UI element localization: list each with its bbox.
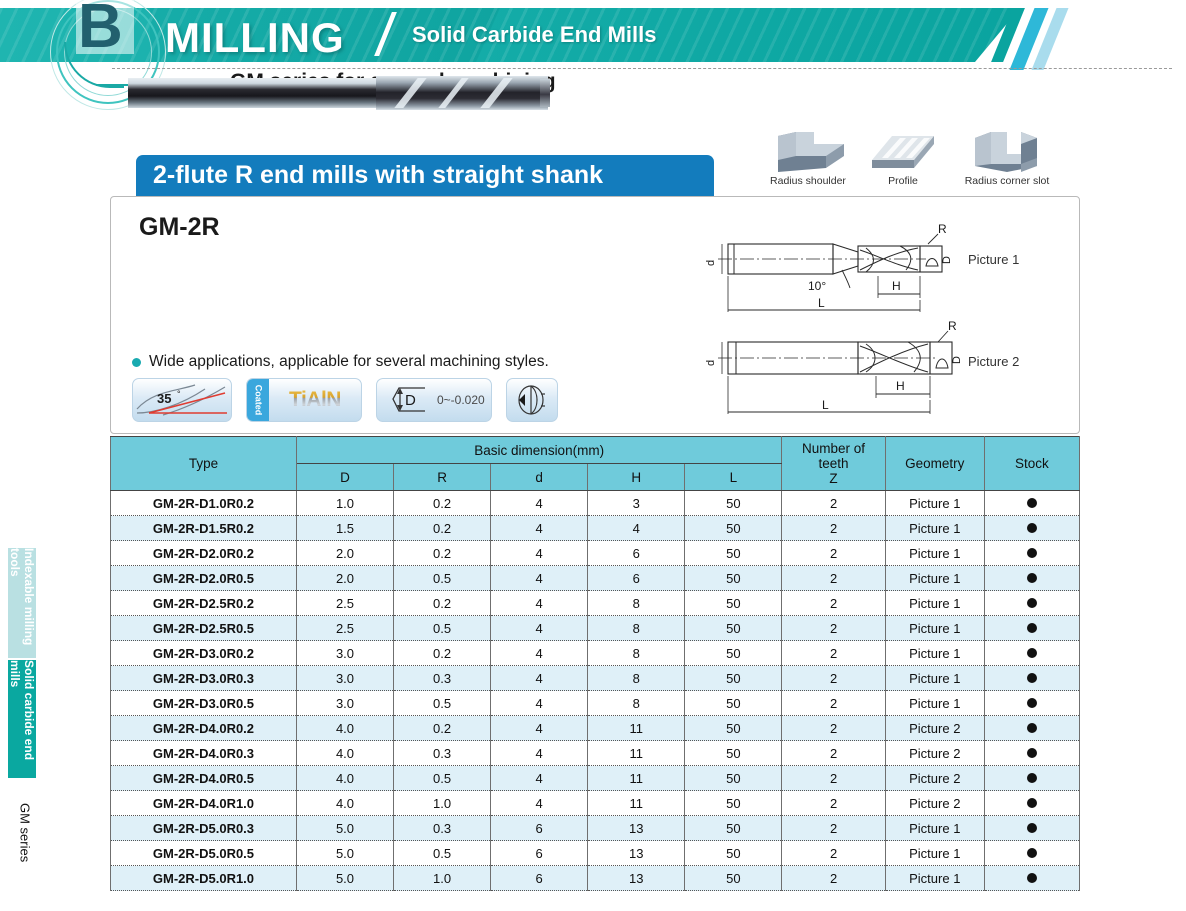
col-basic-dimension: Basic dimension(mm) — [296, 437, 781, 464]
cell-teeth: 2 — [782, 666, 885, 691]
teeth-line-1: Number of — [784, 441, 882, 456]
photo-shank — [128, 78, 378, 108]
cell-L: 50 — [685, 541, 782, 566]
cell-R: 0.2 — [394, 716, 491, 741]
cell-R: 0.3 — [394, 816, 491, 841]
flute-cross-section-icon — [515, 382, 549, 418]
taper-angle-label: 10° — [808, 279, 826, 293]
col-d: d — [491, 464, 588, 491]
svg-text:°: ° — [177, 389, 181, 399]
cell-d: 4 — [491, 641, 588, 666]
stock-available-icon — [1027, 723, 1037, 733]
cell-R: 1.0 — [394, 866, 491, 891]
cell-teeth: 2 — [782, 516, 885, 541]
table-row: GM-2R-D3.0R0.53.00.548502Picture 1 — [111, 691, 1080, 716]
section-title-text: 2-flute R end mills with straight shank — [153, 161, 603, 190]
stock-available-icon — [1027, 848, 1037, 858]
cell-R: 0.2 — [394, 541, 491, 566]
cell-geometry: Picture 1 — [885, 841, 984, 866]
col-D: D — [296, 464, 393, 491]
tolerance-symbol-text: D — [405, 392, 416, 409]
cell-stock — [984, 866, 1079, 891]
cell-geometry: Picture 2 — [885, 766, 984, 791]
cell-teeth: 2 — [782, 816, 885, 841]
col-type: Type — [111, 437, 297, 491]
radius-corner-slot-icon — [948, 130, 1066, 174]
cell-d: 4 — [491, 766, 588, 791]
cell-stock — [984, 791, 1079, 816]
cell-D: 2.5 — [296, 616, 393, 641]
teeth-line-3: Z — [784, 471, 882, 486]
cell-H: 8 — [588, 691, 685, 716]
cell-type: GM-2R-D4.0R0.3 — [111, 741, 297, 766]
cell-R: 0.5 — [394, 691, 491, 716]
cell-D: 3.0 — [296, 641, 393, 666]
cell-H: 13 — [588, 841, 685, 866]
table-row: GM-2R-D4.0R0.54.00.5411502Picture 2 — [111, 766, 1080, 791]
dim-d-label: d — [705, 260, 717, 266]
picture-1-caption: Picture 1 — [968, 252, 1019, 267]
table-row: GM-2R-D2.5R0.52.50.548502Picture 1 — [111, 616, 1080, 641]
cell-stock — [984, 691, 1079, 716]
cell-geometry: Picture 1 — [885, 491, 984, 516]
cell-R: 0.3 — [394, 666, 491, 691]
technical-drawing-picture-1: d R D 10° H L Picture 1 — [700, 222, 1060, 318]
cell-D: 5.0 — [296, 866, 393, 891]
cell-D: 5.0 — [296, 816, 393, 841]
dim-D-label: D — [941, 256, 953, 264]
cell-teeth: 2 — [782, 541, 885, 566]
cell-geometry: Picture 1 — [885, 616, 984, 641]
feature-bullet-line: Wide applications, applicable for severa… — [132, 353, 549, 371]
stock-available-icon — [1027, 548, 1037, 558]
operation-label: Profile — [866, 175, 940, 187]
operation-radius-corner-slot: Radius corner slot — [948, 130, 1066, 187]
table-row: GM-2R-D2.0R0.22.00.246502Picture 1 — [111, 541, 1080, 566]
stock-available-icon — [1027, 498, 1037, 508]
cell-geometry: Picture 1 — [885, 541, 984, 566]
cell-geometry: Picture 1 — [885, 641, 984, 666]
cell-geometry: Picture 1 — [885, 691, 984, 716]
cell-R: 0.3 — [394, 741, 491, 766]
cell-stock — [984, 491, 1079, 516]
cell-L: 50 — [685, 791, 782, 816]
cell-R: 0.2 — [394, 516, 491, 541]
cell-d: 4 — [491, 616, 588, 641]
sidebar-item-solid-carbide-end-mills[interactable]: Solid carbide end mills — [8, 660, 36, 778]
cell-R: 0.5 — [394, 841, 491, 866]
stock-available-icon — [1027, 748, 1037, 758]
cell-teeth: 2 — [782, 591, 885, 616]
dim-L-label: L — [822, 398, 829, 412]
cell-stock — [984, 591, 1079, 616]
cell-L: 50 — [685, 641, 782, 666]
cell-d: 6 — [491, 841, 588, 866]
col-geometry: Geometry — [885, 437, 984, 491]
cell-stock — [984, 616, 1079, 641]
stock-available-icon — [1027, 523, 1037, 533]
helix-angle-value: 35 — [157, 391, 171, 406]
stock-available-icon — [1027, 823, 1037, 833]
dim-H-label: H — [896, 379, 905, 393]
cell-D: 2.5 — [296, 591, 393, 616]
technical-drawing-picture-2: d R D H L Picture 2 — [700, 320, 1060, 420]
cell-L: 50 — [685, 566, 782, 591]
cell-d: 6 — [491, 816, 588, 841]
cell-teeth: 2 — [782, 691, 885, 716]
cell-H: 3 — [588, 491, 685, 516]
cell-d: 4 — [491, 716, 588, 741]
operation-radius-shoulder: Radius shoulder — [758, 130, 858, 187]
col-R: R — [394, 464, 491, 491]
cell-geometry: Picture 1 — [885, 866, 984, 891]
cell-type: GM-2R-D4.0R0.5 — [111, 766, 297, 791]
coated-strip-label: Coated — [247, 379, 269, 421]
stock-available-icon — [1027, 773, 1037, 783]
cell-stock — [984, 516, 1079, 541]
cell-teeth: 2 — [782, 716, 885, 741]
table-row: GM-2R-D4.0R0.34.00.3411502Picture 2 — [111, 741, 1080, 766]
col-H: H — [588, 464, 685, 491]
cell-type: GM-2R-D2.5R0.5 — [111, 616, 297, 641]
stock-available-icon — [1027, 698, 1037, 708]
cell-geometry: Picture 2 — [885, 716, 984, 741]
cell-type: GM-2R-D1.5R0.2 — [111, 516, 297, 541]
cell-geometry: Picture 1 — [885, 591, 984, 616]
cell-L: 50 — [685, 691, 782, 716]
stock-available-icon — [1027, 798, 1037, 808]
cell-D: 1.5 — [296, 516, 393, 541]
series-label-text: GM series — [18, 803, 33, 862]
cell-H: 8 — [588, 666, 685, 691]
cell-L: 50 — [685, 816, 782, 841]
table-row: GM-2R-D5.0R0.55.00.5613502Picture 1 — [111, 841, 1080, 866]
cell-R: 0.5 — [394, 616, 491, 641]
cell-d: 4 — [491, 691, 588, 716]
operation-label: Radius corner slot — [948, 175, 1066, 187]
cell-stock — [984, 766, 1079, 791]
operation-icons: Radius shoulder Profile Radius corner sl — [758, 130, 1068, 198]
header-subtitle: Solid Carbide End Mills — [412, 22, 656, 48]
table-row: GM-2R-D1.0R0.21.00.243502Picture 1 — [111, 491, 1080, 516]
cell-L: 50 — [685, 766, 782, 791]
teeth-line-2: teeth — [784, 456, 882, 471]
cell-H: 13 — [588, 866, 685, 891]
cell-d: 6 — [491, 866, 588, 891]
sidebar-item-indexable-milling-tools[interactable]: Indexable milling tools — [8, 548, 36, 658]
cell-type: GM-2R-D3.0R0.2 — [111, 641, 297, 666]
profile-icon — [866, 130, 940, 174]
col-teeth: Number of teeth Z — [782, 437, 885, 491]
cell-type: GM-2R-D4.0R0.2 — [111, 716, 297, 741]
cell-L: 50 — [685, 591, 782, 616]
cell-stock — [984, 841, 1079, 866]
cell-d: 4 — [491, 566, 588, 591]
sidebar-item-label: Indexable milling tools — [8, 548, 36, 658]
cell-geometry: Picture 1 — [885, 666, 984, 691]
header-category: MILLING — [165, 14, 345, 62]
section-title-tab: 2-flute R end mills with straight shank — [136, 155, 714, 196]
cell-teeth: 2 — [782, 841, 885, 866]
cell-d: 4 — [491, 491, 588, 516]
cell-L: 50 — [685, 716, 782, 741]
cell-type: GM-2R-D2.0R0.2 — [111, 541, 297, 566]
cell-stock — [984, 816, 1079, 841]
cell-geometry: Picture 2 — [885, 741, 984, 766]
cell-H: 11 — [588, 741, 685, 766]
table-header-row-1: Type Basic dimension(mm) Number of teeth… — [111, 437, 1080, 464]
badge-tolerance: D 0~-0.020 — [376, 378, 492, 422]
photo-cutting-tip — [540, 79, 550, 107]
cell-L: 50 — [685, 516, 782, 541]
dim-R-label: R — [948, 320, 957, 333]
cell-R: 0.2 — [394, 591, 491, 616]
table-row: GM-2R-D2.0R0.52.00.546502Picture 1 — [111, 566, 1080, 591]
cell-L: 50 — [685, 616, 782, 641]
cell-stock — [984, 741, 1079, 766]
sidebar-series-label: GM series — [8, 790, 42, 876]
feature-text: Wide applications, applicable for severa… — [149, 353, 549, 371]
operation-profile: Profile — [866, 130, 940, 187]
coated-text: Coated — [253, 385, 263, 416]
specification-table: Type Basic dimension(mm) Number of teeth… — [110, 436, 1080, 891]
cell-teeth: 2 — [782, 616, 885, 641]
cell-stock — [984, 541, 1079, 566]
cell-teeth: 2 — [782, 766, 885, 791]
cell-teeth: 2 — [782, 566, 885, 591]
stock-available-icon — [1027, 573, 1037, 583]
cell-L: 50 — [685, 491, 782, 516]
stock-available-icon — [1027, 673, 1037, 683]
radius-shoulder-icon — [758, 130, 858, 174]
cell-type: GM-2R-D2.0R0.5 — [111, 566, 297, 591]
cell-R: 0.2 — [394, 641, 491, 666]
table-row: GM-2R-D4.0R1.04.01.0411502Picture 2 — [111, 791, 1080, 816]
badge-flute-section — [506, 378, 558, 422]
cell-d: 4 — [491, 666, 588, 691]
cell-type: GM-2R-D5.0R0.3 — [111, 816, 297, 841]
cell-H: 6 — [588, 541, 685, 566]
page-header: B MILLING Solid Carbide End Mills — [0, 0, 1186, 62]
cell-D: 5.0 — [296, 841, 393, 866]
table-body: GM-2R-D1.0R0.21.00.243502Picture 1GM-2R-… — [111, 491, 1080, 891]
cell-geometry: Picture 2 — [885, 791, 984, 816]
cell-teeth: 2 — [782, 791, 885, 816]
cell-d: 4 — [491, 591, 588, 616]
cell-geometry: Picture 1 — [885, 816, 984, 841]
cell-H: 11 — [588, 766, 685, 791]
table-header: Type Basic dimension(mm) Number of teeth… — [111, 437, 1080, 491]
cell-type: GM-2R-D5.0R0.5 — [111, 841, 297, 866]
cell-D: 4.0 — [296, 766, 393, 791]
cell-H: 4 — [588, 516, 685, 541]
cell-R: 0.5 — [394, 566, 491, 591]
cell-D: 1.0 — [296, 491, 393, 516]
cell-D: 3.0 — [296, 691, 393, 716]
cell-d: 4 — [491, 516, 588, 541]
cell-geometry: Picture 1 — [885, 566, 984, 591]
cell-H: 11 — [588, 716, 685, 741]
cell-L: 50 — [685, 741, 782, 766]
cell-stock — [984, 666, 1079, 691]
stock-available-icon — [1027, 598, 1037, 608]
cell-H: 8 — [588, 616, 685, 641]
operation-label: Radius shoulder — [758, 175, 858, 187]
badge-helix-angle: 35 ° — [132, 378, 232, 422]
cell-teeth: 2 — [782, 741, 885, 766]
cell-teeth: 2 — [782, 491, 885, 516]
bullet-dot-icon — [132, 358, 141, 367]
coating-name: TiAlN — [269, 388, 361, 412]
cell-type: GM-2R-D3.0R0.3 — [111, 666, 297, 691]
cell-H: 6 — [588, 566, 685, 591]
table-row: GM-2R-D2.5R0.22.50.248502Picture 1 — [111, 591, 1080, 616]
cell-L: 50 — [685, 841, 782, 866]
table-row: GM-2R-D5.0R0.35.00.3613502Picture 1 — [111, 816, 1080, 841]
badge-coating: Coated TiAlN — [246, 378, 362, 422]
cell-stock — [984, 566, 1079, 591]
cell-stock — [984, 641, 1079, 666]
cell-d: 4 — [491, 791, 588, 816]
dim-d-label: d — [705, 360, 717, 366]
dim-H-label: H — [892, 279, 901, 293]
cell-H: 8 — [588, 641, 685, 666]
cell-type: GM-2R-D3.0R0.5 — [111, 691, 297, 716]
table-row: GM-2R-D4.0R0.24.00.2411502Picture 2 — [111, 716, 1080, 741]
cell-stock — [984, 716, 1079, 741]
cell-H: 11 — [588, 791, 685, 816]
dim-L-label: L — [818, 296, 825, 310]
col-L: L — [685, 464, 782, 491]
cell-d: 4 — [491, 541, 588, 566]
product-code: GM-2R — [139, 213, 220, 242]
cell-L: 50 — [685, 866, 782, 891]
stock-available-icon — [1027, 623, 1037, 633]
cell-type: GM-2R-D5.0R1.0 — [111, 866, 297, 891]
picture-2-caption: Picture 2 — [968, 354, 1019, 369]
cell-teeth: 2 — [782, 866, 885, 891]
cell-D: 3.0 — [296, 666, 393, 691]
cell-D: 4.0 — [296, 791, 393, 816]
dim-R-label: R — [938, 222, 947, 236]
cell-R: 1.0 — [394, 791, 491, 816]
cell-type: GM-2R-D4.0R1.0 — [111, 791, 297, 816]
cell-L: 50 — [685, 666, 782, 691]
cell-type: GM-2R-D1.0R0.2 — [111, 491, 297, 516]
table-row: GM-2R-D5.0R1.05.01.0613502Picture 1 — [111, 866, 1080, 891]
feature-badges: 35 ° Coated TiAlN D 0~-0.020 — [132, 378, 558, 422]
cell-H: 13 — [588, 816, 685, 841]
tolerance-value: 0~-0.020 — [437, 393, 485, 407]
cell-type: GM-2R-D2.5R0.2 — [111, 591, 297, 616]
cell-teeth: 2 — [782, 641, 885, 666]
cell-H: 8 — [588, 591, 685, 616]
cell-D: 2.0 — [296, 566, 393, 591]
dim-D-label: D — [951, 356, 963, 364]
cell-D: 4.0 — [296, 716, 393, 741]
table-row: GM-2R-D1.5R0.21.50.244502Picture 1 — [111, 516, 1080, 541]
sidebar-item-label: Solid carbide end mills — [8, 660, 36, 778]
cell-R: 0.2 — [394, 491, 491, 516]
table-row: GM-2R-D3.0R0.33.00.348502Picture 1 — [111, 666, 1080, 691]
cell-geometry: Picture 1 — [885, 516, 984, 541]
cell-R: 0.5 — [394, 766, 491, 791]
stock-available-icon — [1027, 648, 1037, 658]
col-stock: Stock — [984, 437, 1079, 491]
stock-available-icon — [1027, 873, 1037, 883]
cell-D: 2.0 — [296, 541, 393, 566]
product-photo — [120, 66, 540, 118]
cell-d: 4 — [491, 741, 588, 766]
table-row: GM-2R-D3.0R0.23.00.248502Picture 1 — [111, 641, 1080, 666]
cell-D: 4.0 — [296, 741, 393, 766]
